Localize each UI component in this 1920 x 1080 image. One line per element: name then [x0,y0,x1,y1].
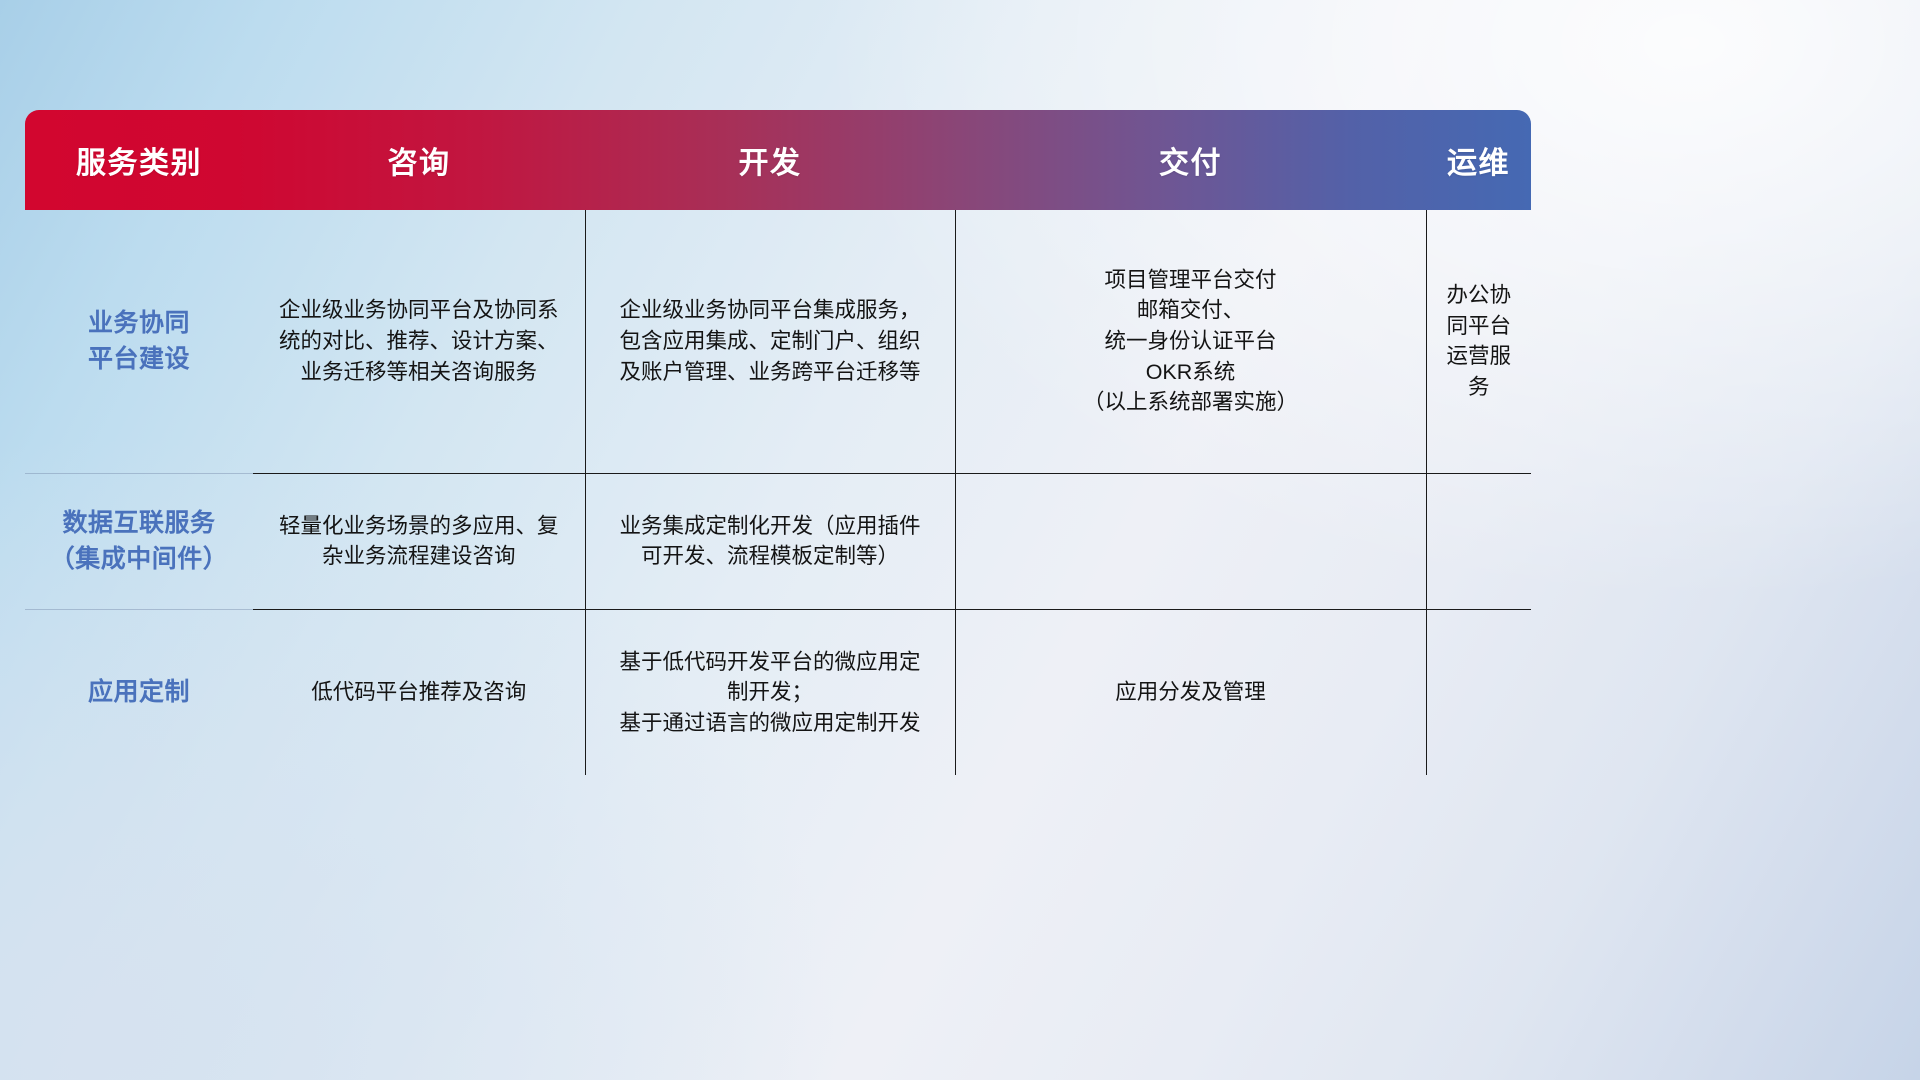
column-header-label: 咨询 [253,138,585,182]
cell-delivery [955,473,1426,609]
table-header: 服务类别 咨询 开发 交付 运维 [25,110,1531,210]
cell-text: 办公协同平台运营服务 [1437,280,1522,402]
column-header-label: 开发 [585,138,955,182]
cell-operations [1426,609,1531,775]
cell-text: 轻量化业务场景的多应用、复 杂业务流程建设咨询 [263,511,575,572]
services-matrix-table: 服务类别 咨询 开发 交付 运维 业务协同 平台建设 [25,110,1531,775]
column-header-label: 交付 [955,138,1426,182]
table-row: 数据互联服务 （集成中间件） 轻量化业务场景的多应用、复 杂业务流程建设咨询 业… [25,473,1531,609]
cell-text: 业务集成定制化开发（应用插件 可开发、流程模板定制等） [596,511,945,572]
row-header-cell: 应用定制 [25,609,253,775]
cell-operations: 办公协同平台运营服务 [1426,210,1531,473]
row-header-cell: 数据互联服务 （集成中间件） [25,473,253,609]
cell-text: 企业级业务协同平台集成服务， 包含应用集成、定制门户、组织 及账户管理、业务跨平… [596,295,945,387]
column-header-development: 开发 [585,110,955,210]
services-table: 服务类别 咨询 开发 交付 运维 业务协同 平台建设 [25,110,1531,775]
cell-delivery: 项目管理平台交付 邮箱交付、 统一身份认证平台 OKR系统 （以上系统部署实施） [955,210,1426,473]
cell-consulting: 企业级业务协同平台及协同系 统的对比、推荐、设计方案、 业务迁移等相关咨询服务 [253,210,585,473]
cell-delivery: 应用分发及管理 [955,609,1426,775]
column-header-operations: 运维 [1426,110,1531,210]
header-row: 服务类别 咨询 开发 交付 运维 [25,110,1531,210]
column-header-label: 服务类别 [25,138,253,182]
column-header-consulting: 咨询 [253,110,585,210]
table-row: 应用定制 低代码平台推荐及咨询 基于低代码开发平台的微应用定 制开发； 基于通过… [25,609,1531,775]
row-header-cell: 业务协同 平台建设 [25,210,253,473]
cell-operations [1426,473,1531,609]
column-header-category: 服务类别 [25,110,253,210]
table-body: 业务协同 平台建设 企业级业务协同平台及协同系 统的对比、推荐、设计方案、 业务… [25,210,1531,775]
cell-text: 低代码平台推荐及咨询 [263,677,575,708]
cell-development: 企业级业务协同平台集成服务， 包含应用集成、定制门户、组织 及账户管理、业务跨平… [585,210,955,473]
cell-text: 应用分发及管理 [966,677,1416,708]
cell-development: 业务集成定制化开发（应用插件 可开发、流程模板定制等） [585,473,955,609]
cell-text: 企业级业务协同平台及协同系 统的对比、推荐、设计方案、 业务迁移等相关咨询服务 [263,295,575,387]
cell-development: 基于低代码开发平台的微应用定 制开发； 基于通过语言的微应用定制开发 [585,609,955,775]
row-header-label: 数据互联服务 （集成中间件） [35,505,243,578]
table-row: 业务协同 平台建设 企业级业务协同平台及协同系 统的对比、推荐、设计方案、 业务… [25,210,1531,473]
column-header-label: 运维 [1426,138,1531,182]
cell-text: 项目管理平台交付 邮箱交付、 统一身份认证平台 OKR系统 （以上系统部署实施） [966,265,1416,418]
cell-text: 基于低代码开发平台的微应用定 制开发； 基于通过语言的微应用定制开发 [596,647,945,739]
column-header-delivery: 交付 [955,110,1426,210]
row-header-label: 应用定制 [35,674,243,710]
cell-consulting: 低代码平台推荐及咨询 [253,609,585,775]
cell-consulting: 轻量化业务场景的多应用、复 杂业务流程建设咨询 [253,473,585,609]
row-header-label: 业务协同 平台建设 [35,305,243,378]
